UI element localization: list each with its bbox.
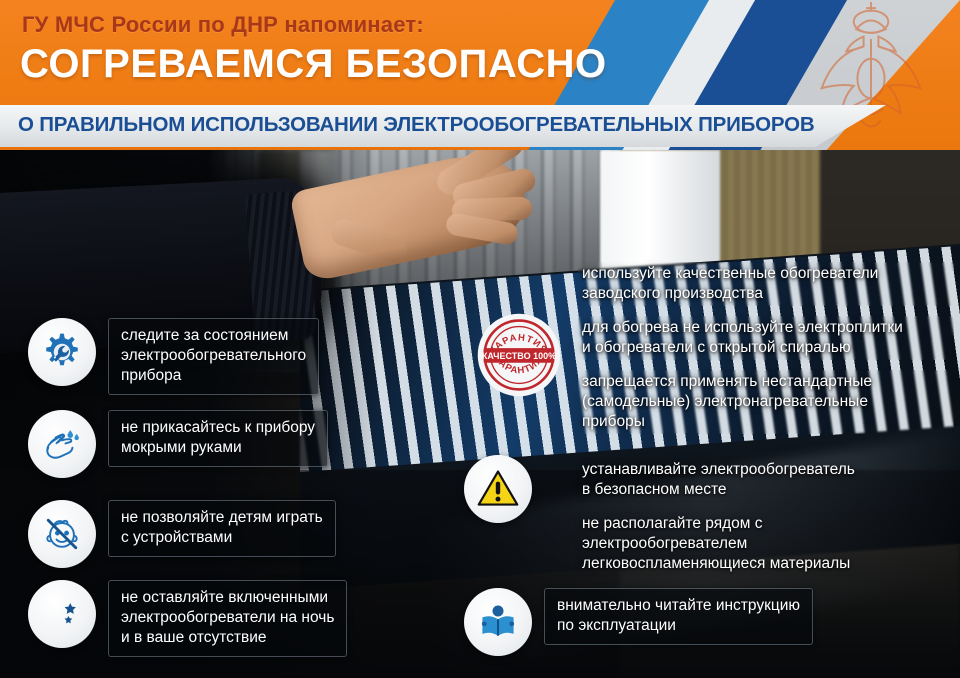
right-text-quality-heaters: используйте качественные обогреватели за… <box>578 262 954 306</box>
tip-row-monitor-device: следите за состоянием электрообогревател… <box>28 318 319 395</box>
no-children-icon <box>28 500 96 568</box>
right-text-no-hotplates: для обогрева не используйте электроплитк… <box>578 316 954 360</box>
tip-text-wet-hands: не прикасайтесь к прибору мокрыми руками <box>108 410 328 467</box>
stamp-banner-text: КАЧЕСТВО 100% <box>482 351 556 361</box>
warning-triangle-icon <box>464 455 532 523</box>
tip-row-night-off: не оставляйте включенными электрообогрев… <box>28 580 347 657</box>
header-main-title: СОГРЕВАЕМСЯ БЕЗОПАСНО <box>20 40 607 88</box>
tip-row-no-children: не позволяйте детям играть с устройствам… <box>28 500 336 568</box>
tip-row-wet-hands: не прикасайтесь к прибору мокрыми руками <box>28 410 328 478</box>
warning-text-safe-place: устанавливайте электрообогреватель в без… <box>578 458 958 502</box>
tip-text-no-children: не позволяйте детям играть с устройствам… <box>108 500 336 557</box>
quality-guarantee-stamp-icon: ГАРАНТИЯ ГАРАНТИЯ КАЧЕСТВО 100% <box>476 312 562 398</box>
tip-row-read-manual: внимательно читайте инструкцию по эксплу… <box>464 588 813 656</box>
moon-stars-icon <box>28 580 96 648</box>
header-reminder-line: ГУ МЧС России по ДНР напоминает: <box>22 12 424 38</box>
tip-text-night-off: не оставляйте включенными электрообогрев… <box>108 580 347 657</box>
wet-hands-icon <box>28 410 96 478</box>
right-text-no-homemade: запрещается применять нестандартные (сам… <box>578 370 954 434</box>
subtitle-text: О ПРАВИЛЬНОМ ИСПОЛЬЗОВАНИИ ЭЛЕКТРООБОГРЕ… <box>18 113 898 137</box>
infographic-poster: ГУ МЧС России по ДНР напоминает: СОГРЕВА… <box>0 0 960 678</box>
warning-text-no-flammables: не располагайте рядом с электрообогреват… <box>578 512 958 576</box>
warning-text-group: устанавливайте электрообогреватель в без… <box>566 458 958 586</box>
tip-text-read-manual: внимательно читайте инструкцию по эксплу… <box>544 588 813 645</box>
tip-text-monitor-device: следите за состоянием электрообогревател… <box>108 318 319 395</box>
gear-wrench-icon <box>28 318 96 386</box>
tip-row-safe-placement <box>464 455 532 523</box>
right-text-group: используйте качественные обогреватели за… <box>566 262 954 444</box>
person-reading-book-icon <box>464 588 532 656</box>
